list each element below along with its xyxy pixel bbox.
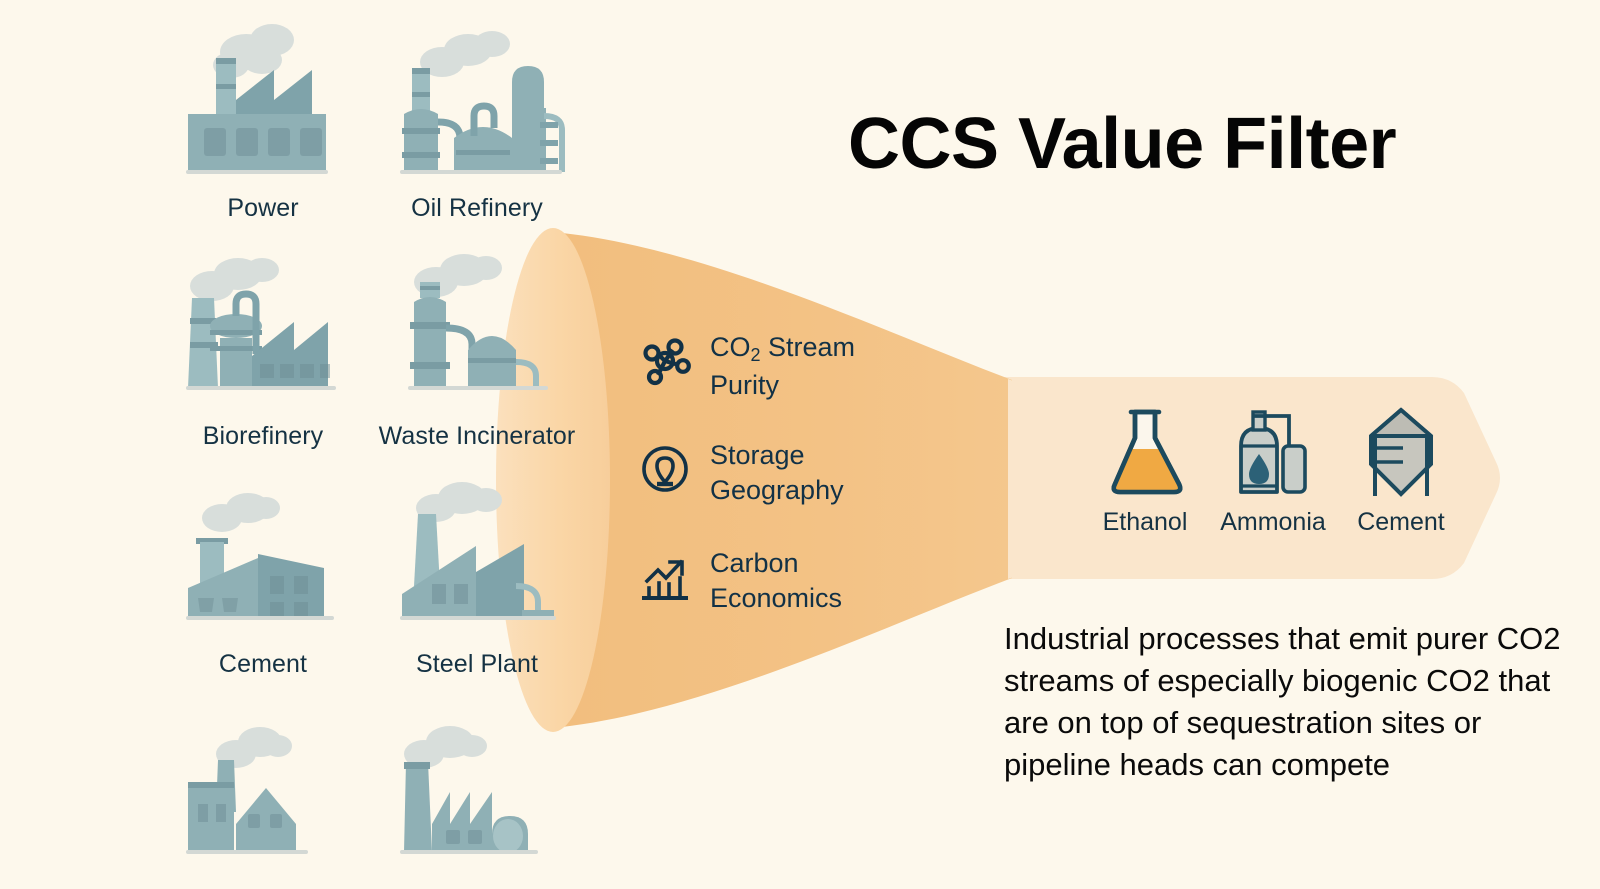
criterion-label-sub: 2 — [751, 345, 761, 365]
source-label: Steel Plant — [416, 650, 538, 679]
funnel-neck-shape — [1008, 379, 1070, 579]
source-item-power[interactable]: Power — [168, 8, 358, 236]
steel-plant-icon — [382, 464, 572, 646]
growth-chart-icon — [636, 548, 694, 606]
source-item-factory[interactable] — [168, 692, 358, 889]
infographic-canvas: Power — [0, 0, 1600, 889]
emission-sources-grid: Power — [168, 8, 588, 889]
criterion-storage-geography[interactable]: Storage Geography — [636, 438, 906, 514]
criterion-label: Storage Geography — [710, 438, 890, 508]
source-item-oil-refinery[interactable]: Oil Refinery — [382, 8, 572, 236]
output-item-ammonia[interactable]: Ammonia — [1218, 398, 1328, 537]
source-item-waste-incinerator[interactable]: Waste Incinerator — [382, 236, 572, 464]
cement-silo-icon — [1355, 398, 1447, 502]
biorefinery-icon — [168, 236, 358, 418]
source-label: Waste Incinerator — [379, 422, 576, 451]
source-item-biorefinery[interactable]: Biorefinery — [168, 236, 358, 464]
source-label: Biorefinery — [203, 422, 324, 451]
criterion-carbon-economics[interactable]: Carbon Economics — [636, 546, 906, 622]
source-item-factory-alt[interactable] — [382, 692, 572, 889]
gas-tank-droplet-icon — [1227, 398, 1319, 502]
waste-incinerator-icon — [382, 236, 572, 418]
flask-icon — [1099, 398, 1191, 502]
criterion-label: Carbon Economics — [710, 546, 890, 616]
location-pin-circle-icon — [636, 440, 694, 498]
source-label: Power — [227, 194, 298, 223]
oil-refinery-icon — [382, 8, 572, 190]
source-label: Cement — [219, 650, 307, 679]
filter-criteria-list: CO2 Stream Purity Storage Geography — [636, 330, 906, 654]
output-item-ethanol[interactable]: Ethanol — [1090, 398, 1200, 537]
output-label: Cement — [1357, 508, 1445, 537]
output-winners-list: Ethanol Ammonia — [1090, 398, 1456, 537]
criterion-label: CO2 Stream Purity — [710, 330, 890, 403]
factory-icon — [168, 692, 358, 874]
output-item-cement[interactable]: Cement — [1346, 398, 1456, 537]
molecule-icon — [636, 332, 694, 390]
source-item-cement[interactable]: Cement — [168, 464, 358, 692]
output-label: Ammonia — [1220, 508, 1326, 537]
criterion-co2-stream-purity[interactable]: CO2 Stream Purity — [636, 330, 906, 406]
cement-plant-icon — [168, 464, 358, 646]
power-plant-icon — [168, 8, 358, 190]
page-title: CCS Value Filter — [848, 103, 1396, 185]
criterion-label-main: CO — [710, 332, 751, 362]
caption-text: Industrial processes that emit purer CO2… — [1004, 618, 1564, 786]
output-label: Ethanol — [1103, 508, 1188, 537]
factory-alt-icon — [382, 692, 572, 874]
source-label: Oil Refinery — [411, 194, 543, 223]
source-item-steel-plant[interactable]: Steel Plant — [382, 464, 572, 692]
